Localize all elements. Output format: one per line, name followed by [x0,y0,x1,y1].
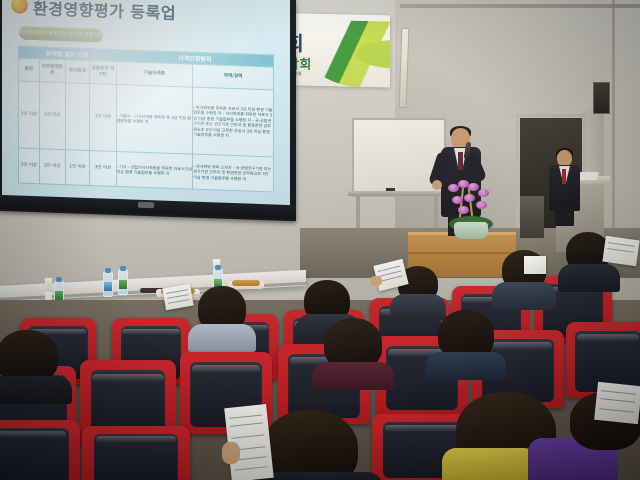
water-bottle [103,271,113,297]
banner-swoosh-icon [304,20,390,88]
text-line [600,408,634,413]
flower-pot [454,222,488,239]
bottle-label [119,280,127,289]
bottle-cap [215,265,221,270]
subheader-2: 토지환경 [65,60,89,84]
table-row: 1인 이상 1인 이상 1인 이상 - 기술사 - 기사자격증 취득한 후 3년… [19,81,274,157]
row1-living: 3인 이상 [90,151,116,187]
upper-body [492,282,556,310]
bottle-cap [120,266,126,271]
row1-total: 1인 이상 [19,148,40,183]
wall-speaker-icon [593,82,610,114]
text-line [167,294,189,299]
text-line [608,248,634,253]
subheader-4: 기술자격증 [116,61,193,87]
audience-member [190,286,254,348]
screen-pull-knob [138,202,154,209]
upper-body [312,362,394,390]
orchid-flower [478,189,489,197]
bottle-label [104,282,112,291]
seat-highlight [0,431,66,438]
necktie [562,169,566,184]
row1-qualification: - 기사 - 산업기사자격증을 취득한 자로서 5년 이상 환경 기술업무를 수… [116,152,193,189]
slide-subtitle-text: 환경영향평가 등록업의 분야별 등록기준 [19,26,103,43]
seat-highlight [122,329,180,336]
row0-qualification: - 기술사 - 기사자격증 취득한 후 3년 이상 환경분야를 수행한 자 [116,84,193,154]
sun-emblem-icon [11,0,28,14]
bottle-label [55,291,63,300]
seat-highlight [577,334,639,342]
presentation-slide: 환경영향평가 등록업 환경영향평가 등록업의 분야별 등록기준 분야별 필요 인… [2,0,290,207]
hair [262,410,358,480]
text-line [608,242,634,247]
slide-table: 분야별 필요 인원 자격인정범위 총원 자연생태환경 토지환경 생활환경 및 기… [18,46,274,193]
text-line [166,289,188,294]
orchid-flower [476,201,487,209]
text-line [168,299,190,304]
seat-highlight [385,425,459,432]
audience-member [0,330,72,394]
row0-living: 1인 이상 [90,84,116,152]
seat-highlight [96,436,176,442]
trousers [555,208,574,226]
subheader-3: 생활환경 및 기타 [90,61,116,85]
orchid-flower [468,183,479,191]
subheader-0: 총원 [19,58,40,82]
upper-body [558,264,620,292]
row1-land: 1인 이상 [65,150,89,186]
audience-member [318,318,388,382]
row1-career: - 석사학위 취득 소지자 - 국·공립연구기관 또는 연구기관 근무자 및 환… [193,154,274,192]
row0-land [65,83,89,151]
text-line [601,398,635,403]
stage-chair [520,196,544,238]
hand [222,442,240,464]
necktie [458,152,463,170]
row0-nature: 1인 이상 [39,82,65,150]
upper-body [0,376,72,404]
seat-highlight [92,374,163,383]
man-at-podium [548,150,582,226]
subheader-5: 학력/경력 [193,64,274,90]
row0-total: 1인 이상 [19,81,40,149]
yellow-garment [442,448,538,480]
text-line [229,414,262,418]
seminar-photo: 수회 구전학회 국립 환경공학과 환경영향평가 등록업 환경영향평가 등록업의 … [0,0,640,480]
auditorium-seat[interactable] [82,426,190,480]
upper-body [426,352,506,380]
upper-body [188,324,256,352]
projection-screen: 환경영향평가 등록업 환경영향평가 등록업의 분야별 등록기준 분야별 필요 인… [0,0,296,234]
subheader-1: 자연생태환경 [39,59,65,83]
text-line [235,466,268,470]
text-line [380,275,403,282]
orchid-flower [452,196,463,204]
slide-subtitle-bar: 환경영향평가 등록업의 분야별 등록기준 [19,26,103,43]
text-line [230,422,263,426]
screen-surface: 환경영향평가 등록업 환경영향평가 등록업의 분야별 등록기준 분야별 필요 인… [2,0,290,207]
bottle-cap [56,277,62,282]
marker-icon [386,188,395,191]
mobile-device [524,256,546,274]
bottle-cap [105,268,111,273]
water-bottle [118,269,128,295]
auditorium-seat[interactable] [0,420,80,480]
orchid-flower [464,194,475,202]
printed-handout [594,382,640,424]
purple-orchid-plant [440,178,502,240]
text-line [232,434,265,438]
orchid-flower [458,206,469,214]
row1-nature: 2인 이상 [39,149,65,185]
text-line [602,390,636,395]
row0-career: - 박사학위를 취득한 자로서 3년 이상 환경 기술업무를 수행한 자 - 석… [193,87,274,157]
seat-highlight [192,365,260,373]
slide-title: 환경영향평가 등록업 [33,0,176,24]
audience-member [432,310,500,372]
hand [370,276,382,286]
wall-corner [612,0,615,250]
printed-handout [602,236,639,266]
ceiling-edge [400,4,640,8]
whiteboard-tray [348,191,446,196]
